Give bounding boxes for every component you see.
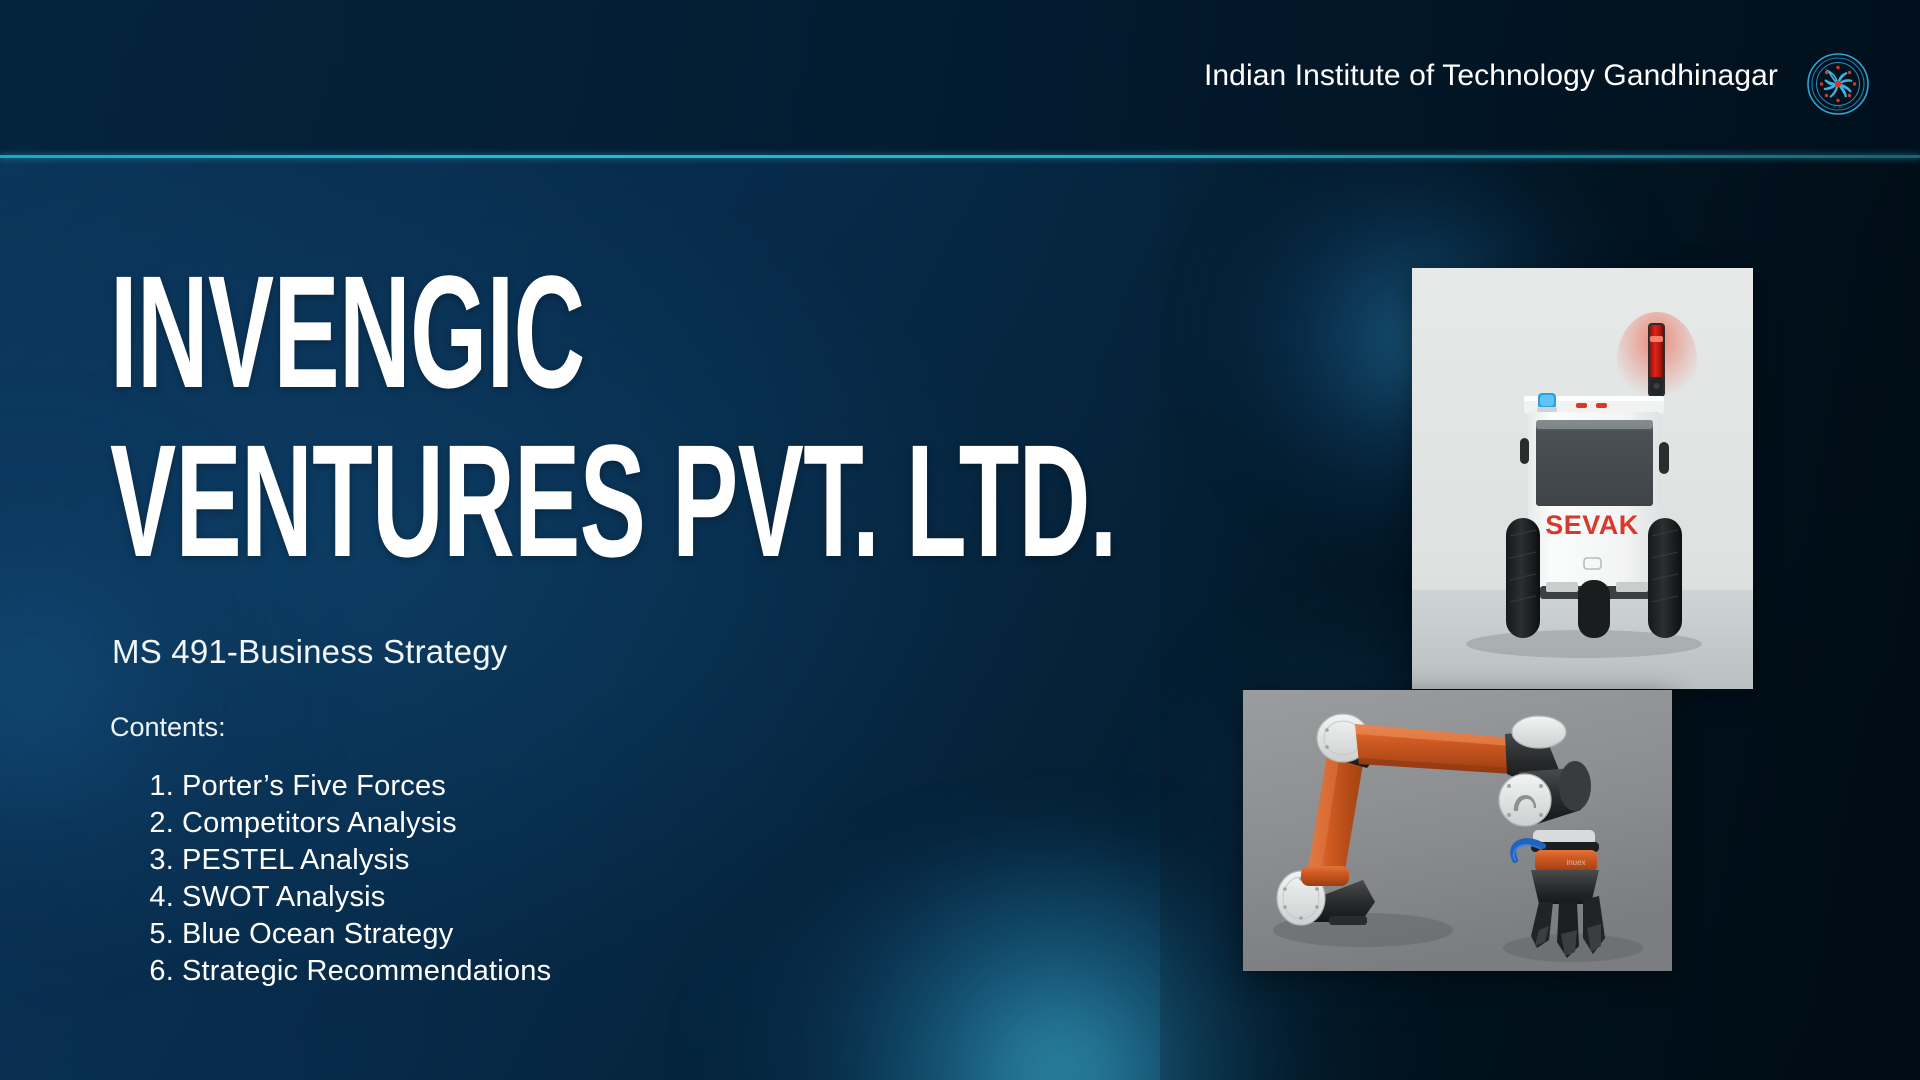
- list-item-number: 4.: [120, 879, 174, 916]
- list-item: 4. SWOT Analysis: [120, 879, 551, 916]
- presentation-slide: Indian Institute of Technology Gandhinag…: [0, 0, 1920, 1080]
- sevak-delivery-robot-photo: SEVAK: [1412, 268, 1753, 689]
- list-item-label: Competitors Analysis: [182, 805, 457, 842]
- robotic-arm-photo: inuex: [1243, 690, 1672, 971]
- svg-text:inuex: inuex: [1566, 858, 1585, 867]
- contents-label: Contents:: [110, 712, 226, 743]
- title-block: INVENGIC VENTURES PVT. LTD.: [110, 258, 1270, 574]
- header-divider: [0, 155, 1920, 158]
- list-item-number: 3.: [120, 842, 174, 879]
- list-item-label: PESTEL Analysis: [182, 842, 410, 879]
- list-item: 2. Competitors Analysis: [120, 805, 551, 842]
- svg-text:SEVAK: SEVAK: [1545, 510, 1639, 540]
- list-item-label: Blue Ocean Strategy: [182, 916, 453, 953]
- list-item: 1. Porter’s Five Forces: [120, 768, 551, 805]
- list-item-label: Porter’s Five Forces: [182, 768, 446, 805]
- list-item: 6. Strategic Recommendations: [120, 953, 551, 990]
- slide-title-line-1: INVENGIC: [110, 258, 829, 405]
- list-item: 5. Blue Ocean Strategy: [120, 916, 551, 953]
- list-item-number: 5.: [120, 916, 174, 953]
- svg-text:IIT GN: IIT GN: [1833, 105, 1843, 109]
- slide-header: Indian Institute of Technology Gandhinag…: [0, 0, 1920, 158]
- list-item-number: 2.: [120, 805, 174, 842]
- list-item-label: SWOT Analysis: [182, 879, 386, 916]
- list-item: 3. PESTEL Analysis: [120, 842, 551, 879]
- contents-list: 1. Porter’s Five Forces 2. Competitors A…: [120, 768, 551, 990]
- institution-name: Indian Institute of Technology Gandhinag…: [1138, 59, 1778, 93]
- course-subtitle: MS 491-Business Strategy: [112, 633, 507, 671]
- iitgn-emblem-icon: IIT GN: [1806, 52, 1870, 116]
- list-item-label: Strategic Recommendations: [182, 953, 551, 990]
- list-item-number: 1.: [120, 768, 174, 805]
- slide-title-line-2: VENTURES PVT. LTD.: [110, 427, 829, 574]
- list-item-number: 6.: [120, 953, 174, 990]
